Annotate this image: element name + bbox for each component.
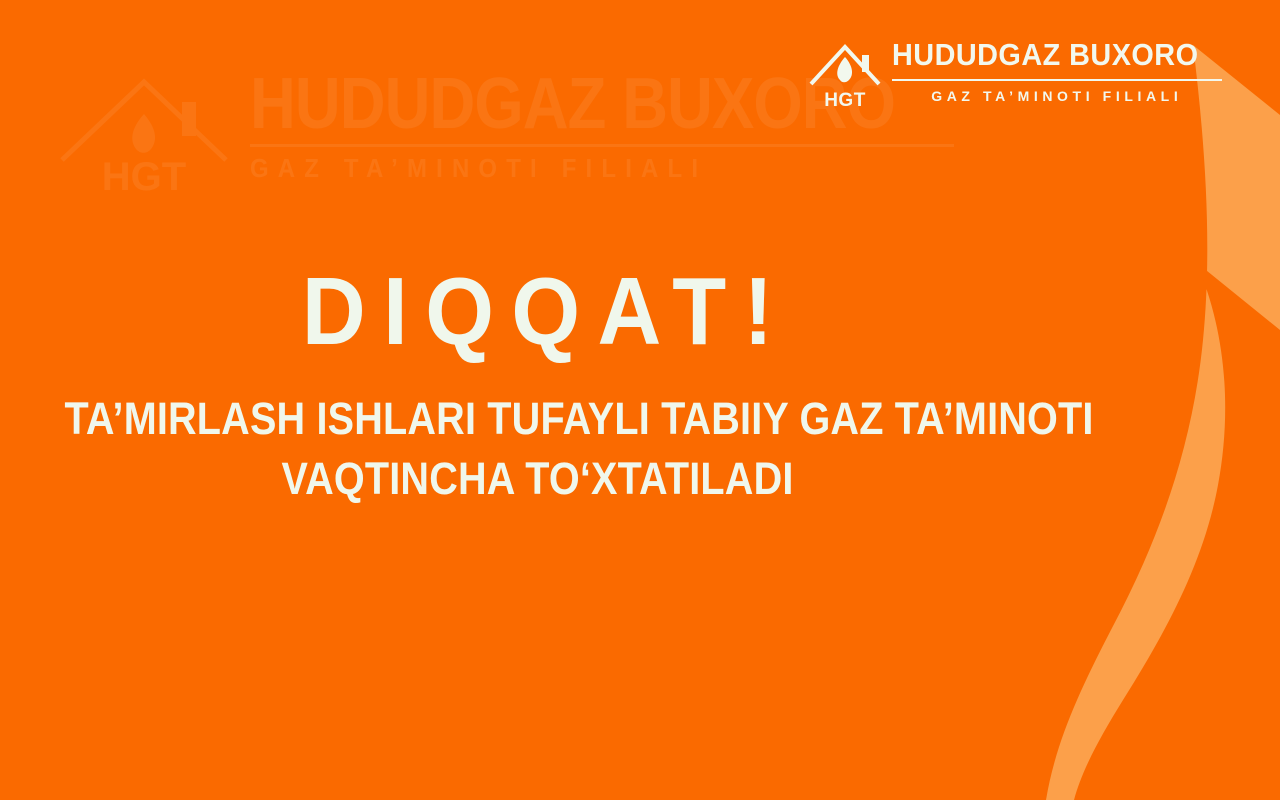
watermark-logo: HGT HUDUDGAZ BUXORO GAZ TA’MINOTI FILIAL…	[44, 52, 804, 202]
brand-lockup: HGT HUDUDGAZ BUXORO GAZ TA’MINOTI FILIAL…	[806, 28, 1222, 114]
house-flame-icon: HGT	[806, 30, 884, 112]
watermark-house-flame-icon: HGT	[44, 52, 244, 202]
headline: DIQQAT!	[43, 262, 1032, 363]
body-line-2: VAQTINCHA TO‘XTATILADI	[65, 449, 1011, 509]
brand-subtitle: GAZ TA’MINOTI FILIALI	[892, 89, 1222, 103]
announcement-message: DIQQAT! TA’MIRLASH ISHLARI TUFAYLI TABII…	[0, 262, 1075, 508]
hgt-label: HGT	[806, 90, 884, 112]
brand-title: HUDUDGAZ BUXORO	[892, 39, 1198, 70]
watermark-title: HUDUDGAZ BUXORO	[250, 70, 895, 138]
watermark-divider	[250, 144, 954, 147]
announcement-poster: HGT HUDUDGAZ BUXORO GAZ TA’MINOTI FILIAL…	[0, 0, 1280, 800]
watermark-subtitle: GAZ TA’MINOTI FILIALI	[250, 153, 924, 184]
watermark-hgt-label: HGT	[44, 155, 244, 200]
brand-divider	[892, 79, 1222, 81]
body-text: TA’MIRLASH ISHLARI TUFAYLI TABIIY GAZ TA…	[0, 389, 1075, 509]
body-line-1: TA’MIRLASH ISHLARI TUFAYLI TABIIY GAZ TA…	[65, 389, 1011, 449]
